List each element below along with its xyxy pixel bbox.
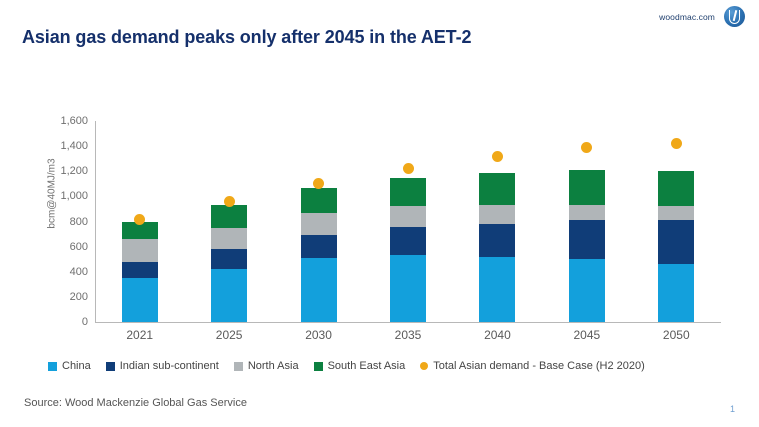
x-axis-tick-2040: 2040 [453, 328, 542, 342]
legend-label: China [62, 360, 91, 372]
bar-group-2045[interactable] [569, 121, 605, 322]
bar-group-2035[interactable] [390, 121, 426, 322]
legend-item-indian-sub-continent[interactable]: Indian sub-continent [106, 360, 219, 372]
bar-segment-north-asia-2040[interactable] [479, 205, 515, 224]
bar-segment-indian-sub-continent-2050[interactable] [658, 220, 694, 264]
x-axis-tick-2021: 2021 [95, 328, 184, 342]
stacked-bar-2021[interactable] [122, 222, 158, 322]
x-axis-tick-2025: 2025 [184, 328, 273, 342]
legend-swatch-icon [48, 362, 57, 371]
bar-segment-china-2050[interactable] [658, 264, 694, 322]
total-demand-marker-2040[interactable] [492, 151, 503, 162]
y-axis-tick-labels: 02004006008001,0001,2001,4001,600 [40, 113, 88, 329]
bar-segment-north-asia-2035[interactable] [390, 206, 426, 226]
bar-segment-indian-sub-continent-2040[interactable] [479, 224, 515, 257]
legend-item-china[interactable]: China [48, 360, 91, 372]
y-axis-tick-200: 200 [70, 291, 88, 303]
bar-segment-south-east-asia-2040[interactable] [479, 173, 515, 206]
bar-group-2025[interactable] [211, 121, 247, 322]
bar-segment-south-east-asia-2050[interactable] [658, 171, 694, 206]
bar-segment-south-east-asia-2030[interactable] [301, 188, 337, 213]
bar-segment-china-2045[interactable] [569, 259, 605, 322]
bar-group-2050[interactable] [658, 121, 694, 322]
x-axis-tick-labels: 2021202520302035204020452050 [95, 328, 721, 346]
bar-segment-china-2035[interactable] [390, 255, 426, 322]
total-demand-marker-2050[interactable] [671, 138, 682, 149]
y-axis-tick-800: 800 [70, 216, 88, 228]
y-axis-tick-400: 400 [70, 266, 88, 278]
bar-segment-indian-sub-continent-2045[interactable] [569, 220, 605, 259]
slide-canvas: woodmac.com Asian gas demand peaks only … [0, 0, 759, 427]
bar-segment-indian-sub-continent-2035[interactable] [390, 227, 426, 256]
bar-segment-north-asia-2021[interactable] [122, 239, 158, 262]
bar-segment-china-2030[interactable] [301, 258, 337, 322]
legend-label: Total Asian demand - Base Case (H2 2020) [433, 360, 645, 372]
x-axis-tick-2030: 2030 [274, 328, 363, 342]
stacked-bar-2050[interactable] [658, 171, 694, 322]
legend-swatch-icon [106, 362, 115, 371]
x-axis-tick-2035: 2035 [363, 328, 452, 342]
bar-segment-indian-sub-continent-2021[interactable] [122, 262, 158, 278]
bar-segment-north-asia-2050[interactable] [658, 206, 694, 220]
legend-swatch-icon [234, 362, 243, 371]
bar-segment-china-2021[interactable] [122, 278, 158, 322]
y-axis-tick-1400: 1,400 [60, 140, 88, 152]
total-demand-marker-2021[interactable] [134, 214, 145, 225]
x-axis-line [95, 322, 721, 323]
bar-segment-south-east-asia-2045[interactable] [569, 170, 605, 205]
y-axis-tick-1000: 1,000 [60, 190, 88, 202]
legend-item-total-asian-demand[interactable]: Total Asian demand - Base Case (H2 2020) [420, 360, 645, 372]
x-axis-tick-2050: 2050 [632, 328, 721, 342]
y-axis-tick-1600: 1,600 [60, 115, 88, 127]
total-demand-marker-2035[interactable] [403, 163, 414, 174]
legend-label: North Asia [248, 360, 299, 372]
bar-segment-north-asia-2025[interactable] [211, 228, 247, 249]
source-note: Source: Wood Mackenzie Global Gas Servic… [24, 397, 247, 409]
chart-legend: ChinaIndian sub-continentNorth AsiaSouth… [48, 360, 645, 372]
bar-segment-indian-sub-continent-2025[interactable] [211, 249, 247, 269]
legend-item-south-east-asia[interactable]: South East Asia [314, 360, 406, 372]
bar-segment-china-2040[interactable] [479, 257, 515, 322]
bar-segment-indian-sub-continent-2030[interactable] [301, 235, 337, 258]
stacked-bar-2035[interactable] [390, 178, 426, 322]
stacked-bar-2045[interactable] [569, 170, 605, 322]
bar-group-2040[interactable] [479, 121, 515, 322]
y-axis-tick-0: 0 [82, 316, 88, 328]
legend-item-north-asia[interactable]: North Asia [234, 360, 299, 372]
page-number: 1 [730, 404, 735, 414]
total-demand-marker-2025[interactable] [224, 196, 235, 207]
stacked-bar-2040[interactable] [479, 173, 515, 322]
stacked-bar-2025[interactable] [211, 205, 247, 322]
bar-segment-north-asia-2045[interactable] [569, 205, 605, 220]
legend-swatch-icon [314, 362, 323, 371]
bar-segment-south-east-asia-2035[interactable] [390, 178, 426, 207]
stacked-bar-2030[interactable] [301, 188, 337, 322]
total-demand-marker-2045[interactable] [581, 142, 592, 153]
bar-group-2021[interactable] [122, 121, 158, 322]
bar-group-2030[interactable] [301, 121, 337, 322]
y-axis-tick-1200: 1,200 [60, 165, 88, 177]
legend-label: South East Asia [328, 360, 406, 372]
x-axis-tick-2045: 2045 [542, 328, 631, 342]
plot-area [95, 121, 721, 322]
legend-label: Indian sub-continent [120, 360, 219, 372]
bar-segment-china-2025[interactable] [211, 269, 247, 322]
y-axis-tick-600: 600 [70, 241, 88, 253]
legend-swatch-icon [420, 362, 428, 370]
bar-segment-north-asia-2030[interactable] [301, 213, 337, 236]
bar-segment-south-east-asia-2025[interactable] [211, 205, 247, 228]
